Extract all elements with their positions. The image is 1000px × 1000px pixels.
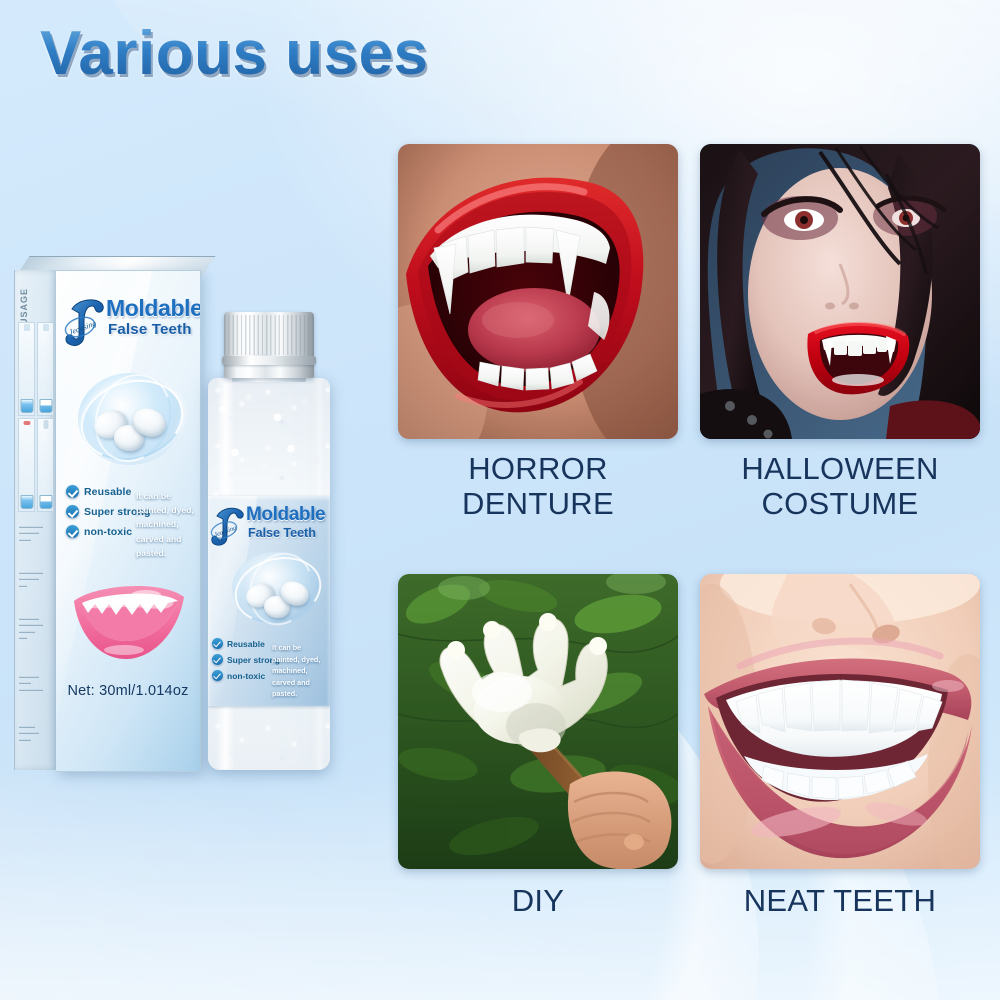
smiling-mouth-white-teeth-pink-lipstick-photo [700,574,980,869]
bottle-feature-item: non-toxic [212,670,270,681]
check-circle-icon [66,505,79,518]
cup-water-icon [20,399,33,413]
cap-ribbing [224,315,314,355]
bottle-cap [224,312,314,378]
use-case-grid: HORROR DENTURE [398,144,980,934]
molded-white-hand-claw-on-wooden-stick-foliage-photo [398,574,678,869]
box-feature-label: non-toxic [84,526,132,538]
usage-step-2 [37,322,54,416]
product-box: USAGE [14,270,200,770]
vampire-woman-dark-hair-red-lips-fangs-photo [700,144,980,439]
bottle-feature-item: Super strong [212,654,270,665]
j-script-logo-icon: Jeausing [64,295,108,349]
box-net-volume: Net: 30ml/1.014oz [56,683,200,699]
box-side-text-1: ▬▬▬▬▬▬▬▬▬▬▬▬▬▬ [19,524,53,543]
page-title: Various uses [40,18,429,89]
cup-mold-icon [39,495,52,509]
bottle-feature-list: Reusable Super strong non-toxic [212,638,270,686]
use-case-cell: DIY [398,574,678,919]
box-side-text-2: ▬▬▬▬▬▬▬▬▬▬▬▬▬ [19,570,53,589]
use-case-cell: HALLOWEEN COSTUME [700,144,980,521]
usage-step-2-icon [43,324,49,331]
box-feature-item: non-toxic [66,525,132,538]
usage-step-4 [37,418,54,512]
box-brand-subtitle: False Teeth [108,321,192,338]
box-feature-item: Reusable [66,485,132,498]
check-circle-icon [66,525,79,538]
bottle-brand-name: Moldable [246,504,325,526]
box-side-text-3: ▬▬▬▬▬▬▬▬▬▬▬▬▬▬▬▬▬ [19,616,53,642]
box-dental-graphic [70,367,190,475]
usage-step-1 [18,322,35,416]
bottle-dental-graphic [228,548,324,628]
cup-hot-icon [20,495,33,509]
box-side-usage-title: USAGE [19,288,53,325]
box-usage-steps [18,322,54,512]
check-circle-icon [212,654,223,665]
pink-lips-teeth-graphic-icon [68,571,190,667]
box-usage-note: It can be painted, dyed, machined, carve… [136,489,198,560]
bottle-feature-label: Reusable [227,639,265,649]
usage-step-3 [18,418,35,512]
j-script-logo-icon: Jeausing [210,504,248,548]
cup-beads-icon [39,399,52,413]
box-side-panel: USAGE [14,270,57,770]
product-shot-group: USAGE [0,250,400,810]
box-feature-label: Reusable [84,486,132,498]
bottle-branding: Jeausing Moldable False Teeth [210,502,328,548]
check-circle-icon [212,670,223,681]
bottle-usage-note: It can be painted, dyed, machined, carve… [272,642,328,700]
usage-step-4-icon [43,420,48,429]
bottle-feature-item: Reusable [212,638,270,649]
box-brand-name: Moldable [106,295,201,322]
usage-step-3-icon [23,421,30,425]
use-case-caption: NEAT TEETH [700,884,980,919]
box-feature-list: Reusable Super strong non-toxic [66,485,132,545]
bottle-feature-label: non-toxic [227,671,265,681]
product-bottle: Jeausing Moldable False Teeth [202,312,336,770]
use-case-caption: DIY [398,884,678,919]
usage-step-1-icon [24,324,30,331]
box-side-text-5: ▬▬▬▬▬▬▬▬▬▬▬▬ [19,724,53,743]
use-case-caption: HALLOWEEN COSTUME [700,452,980,521]
product-marketing-image: Various uses USAGE [0,0,1000,1000]
box-front-face: Jeausing Moldable False Teeth [56,270,201,772]
check-circle-icon [212,638,223,649]
use-case-caption: HORROR DENTURE [398,452,678,521]
check-circle-icon [66,485,79,498]
use-case-cell: NEAT TEETH [700,574,980,919]
bottle-label: Jeausing Moldable False Teeth [208,496,330,706]
use-case-cell: HORROR DENTURE [398,144,678,521]
box-feature-item: Super strong [66,505,132,518]
box-side-text-4: ▬▬▬▬▬▬▬▬▬▬▬▬▬▬ [19,674,53,693]
bottle-body: Jeausing Moldable False Teeth [208,378,330,770]
cap-ring [222,356,316,365]
bottle-brand-subtitle: False Teeth [248,526,316,540]
open-mouth-with-vampire-fangs-red-lipstick-photo [398,144,678,439]
box-branding: Jeausing Moldable False Teeth [62,293,198,355]
